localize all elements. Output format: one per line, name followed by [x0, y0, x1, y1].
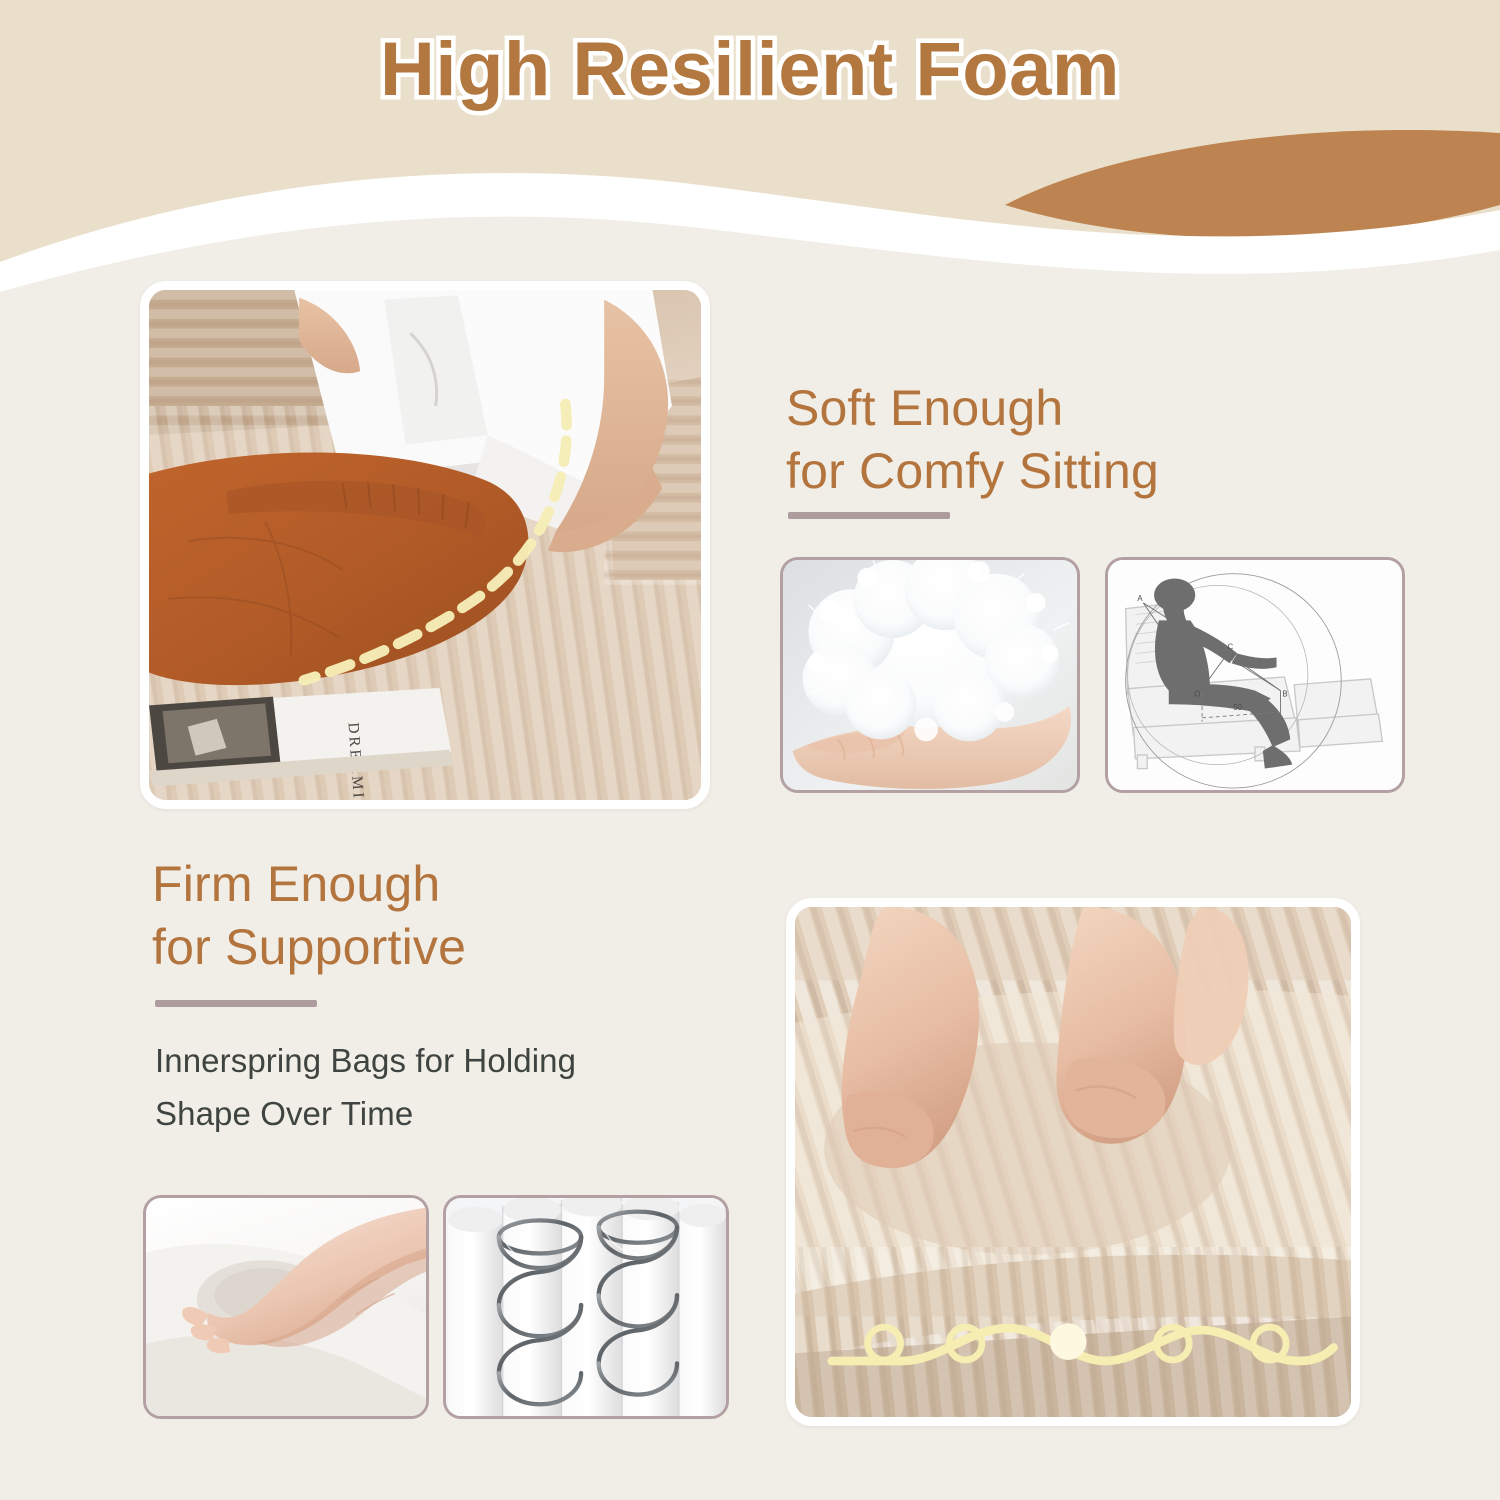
feet-on-cushion-illustration — [795, 907, 1351, 1417]
feet-on-cushion-photo — [786, 898, 1360, 1426]
person-sitting-photo: DREAMING — [140, 281, 710, 809]
fiber-fill-photo-image — [783, 560, 1077, 790]
ergo-label-c: C — [1228, 643, 1234, 652]
person-sitting-photo-image: DREAMING — [149, 290, 701, 800]
product-infographic-poster: High Resilient Foam — [0, 0, 1500, 1500]
ergonomic-diagram-photo: A B C O 50 — [1105, 557, 1405, 793]
soft-section-headline: Soft Enough for Comfy Sitting — [786, 377, 1426, 503]
soft-section-rule — [788, 512, 950, 519]
foam-press-photo — [143, 1195, 429, 1419]
pocket-springs-illustration — [446, 1198, 726, 1416]
pocket-springs-photo-image — [446, 1198, 726, 1416]
header-banner: High Resilient Foam — [0, 0, 1500, 300]
foam-press-photo-image — [146, 1198, 426, 1416]
pocket-springs-photo — [443, 1195, 729, 1419]
fiber-fill-photo — [780, 557, 1080, 793]
ergo-label-o: O — [1194, 689, 1200, 698]
ergonomic-diagram-photo-image: A B C O 50 — [1108, 560, 1402, 790]
firm-section-subtext: Innerspring Bags for Holding Shape Over … — [155, 1034, 755, 1141]
firm-section-headline: Firm Enough for Supportive — [152, 853, 772, 979]
ergonomic-diagram-illustration: A B C O 50 — [1108, 560, 1402, 790]
person-sitting-illustration: DREAMING — [149, 290, 701, 800]
firm-section-rule — [155, 1000, 317, 1007]
page-title: High Resilient Foam — [0, 32, 1500, 108]
fiber-fill-illustration — [783, 560, 1077, 790]
ergo-label-a: A — [1137, 594, 1143, 603]
foam-press-illustration — [146, 1198, 426, 1416]
ergo-label-b: B — [1282, 689, 1287, 698]
feet-on-cushion-photo-image — [795, 907, 1351, 1417]
ergo-label-50: 50 — [1233, 703, 1242, 712]
